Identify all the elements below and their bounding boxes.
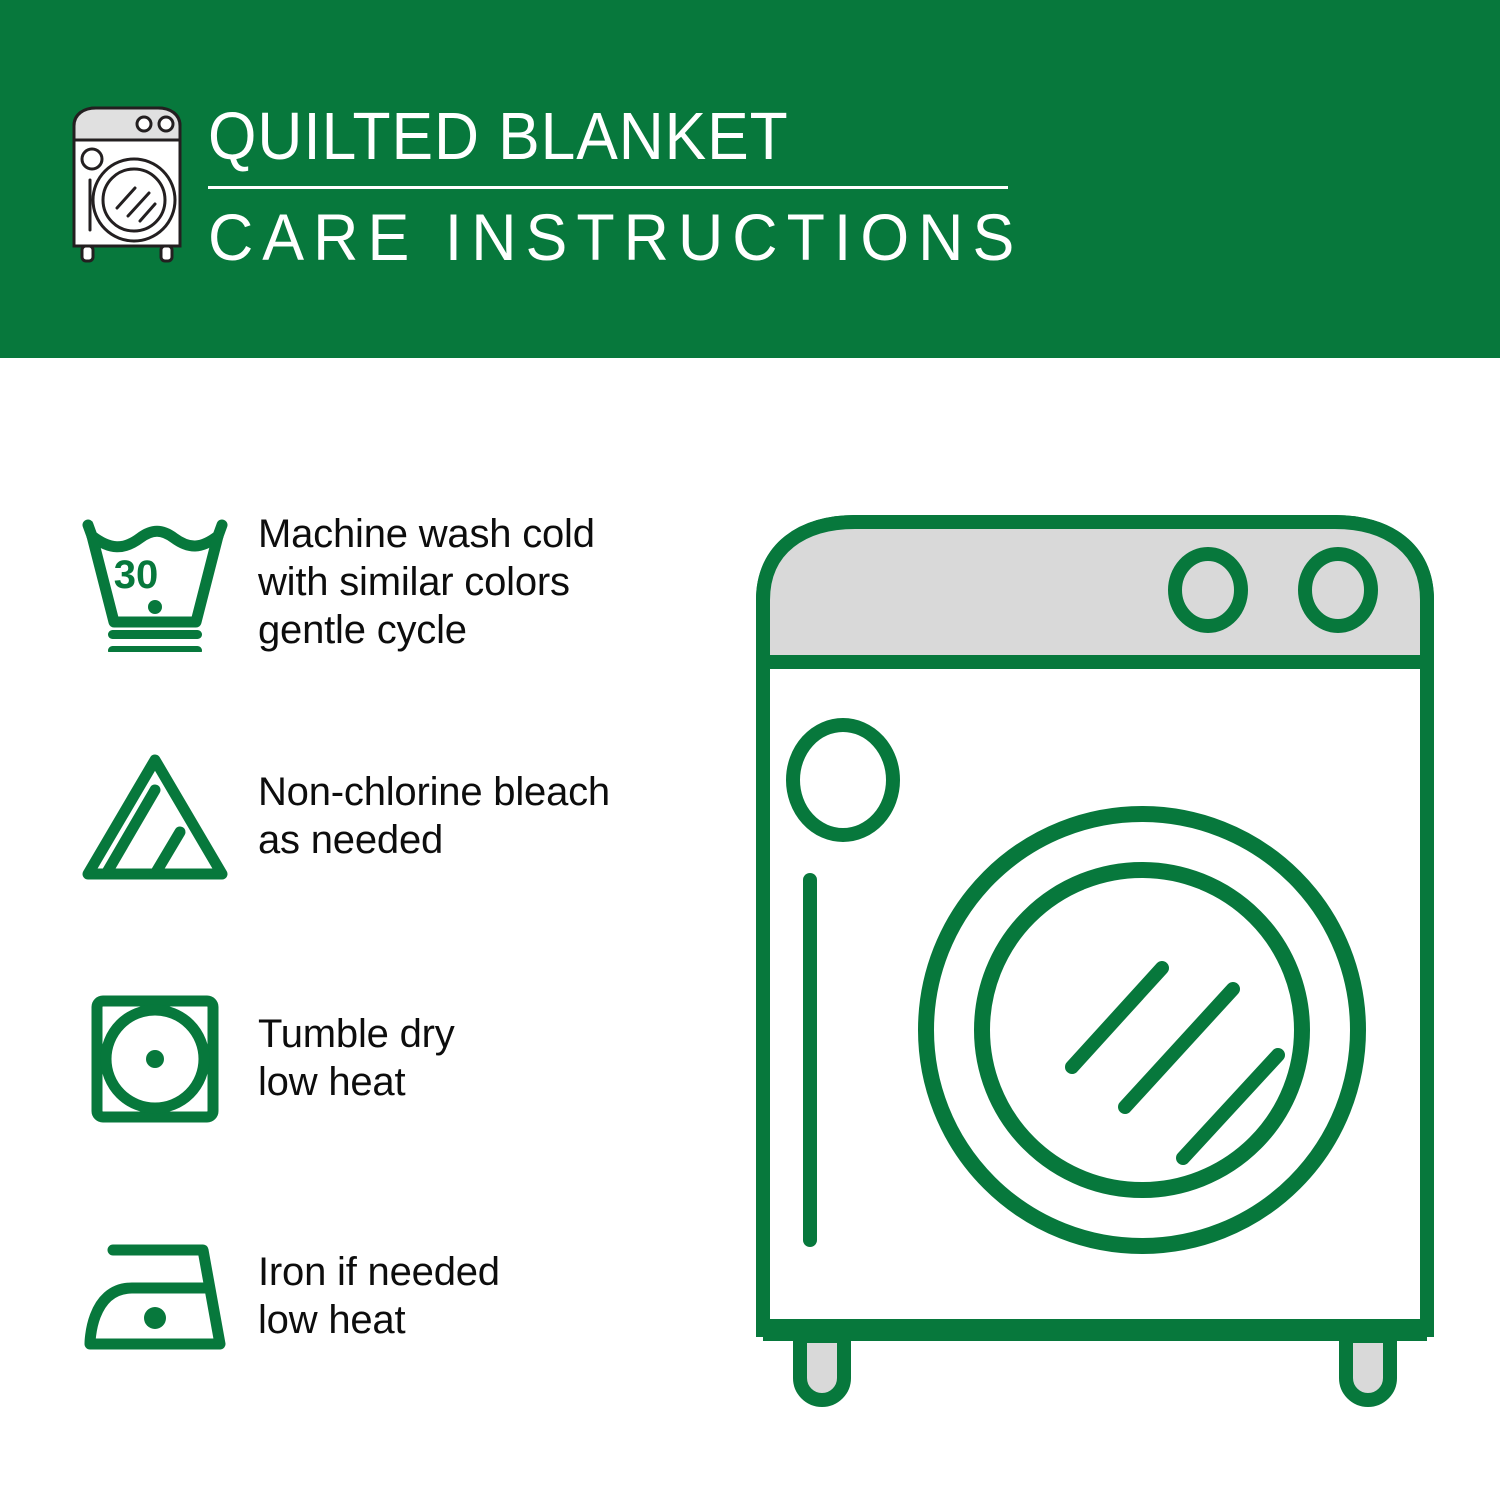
- care-item-bleach: Non-chlorine bleach as needed: [70, 746, 710, 886]
- page-title: QUILTED BLANKET: [208, 102, 1006, 172]
- washing-machine-icon: [62, 96, 192, 264]
- header-banner: QUILTED BLANKET CARE INSTRUCTIONS: [0, 0, 1500, 358]
- header-title-block: QUILTED BLANKET CARE INSTRUCTIONS: [208, 102, 1066, 272]
- wash-tub-30-gentle-icon: 30: [70, 512, 240, 652]
- non-chlorine-bleach-triangle-icon: [70, 746, 240, 886]
- care-item-label: Non-chlorine bleach as needed: [258, 768, 610, 864]
- leg-left: [800, 1336, 844, 1400]
- knob-left: [1175, 554, 1241, 626]
- wash-temperature-label: 30: [114, 553, 159, 597]
- title-divider: [208, 186, 1008, 189]
- leg-right: [1346, 1336, 1390, 1400]
- header-content: QUILTED BLANKET CARE INSTRUCTIONS: [62, 96, 1066, 272]
- front-load-washing-machine-illustration: [745, 500, 1445, 1420]
- detergent-drawer-circle: [793, 725, 893, 835]
- care-item-tumble-dry: Tumble dry low heat: [70, 988, 710, 1128]
- care-item-machine-wash: 30 Machine wash cold with similar colors…: [70, 510, 710, 654]
- knob-right: [1305, 554, 1371, 626]
- care-item-label: Machine wash cold with similar colors ge…: [258, 510, 595, 654]
- page-subtitle: CARE INSTRUCTIONS: [208, 202, 1023, 272]
- care-item-label: Tumble dry low heat: [258, 1010, 455, 1106]
- iron-low-heat-icon: [70, 1226, 240, 1366]
- drum-door-inner-ring: [982, 870, 1302, 1190]
- care-item-label: Iron if needed low heat: [258, 1248, 500, 1344]
- tumble-dry-low-heat-icon: [70, 988, 240, 1128]
- care-item-iron: Iron if needed low heat: [70, 1226, 710, 1366]
- care-instructions-list: 30 Machine wash cold with similar colors…: [0, 358, 720, 1500]
